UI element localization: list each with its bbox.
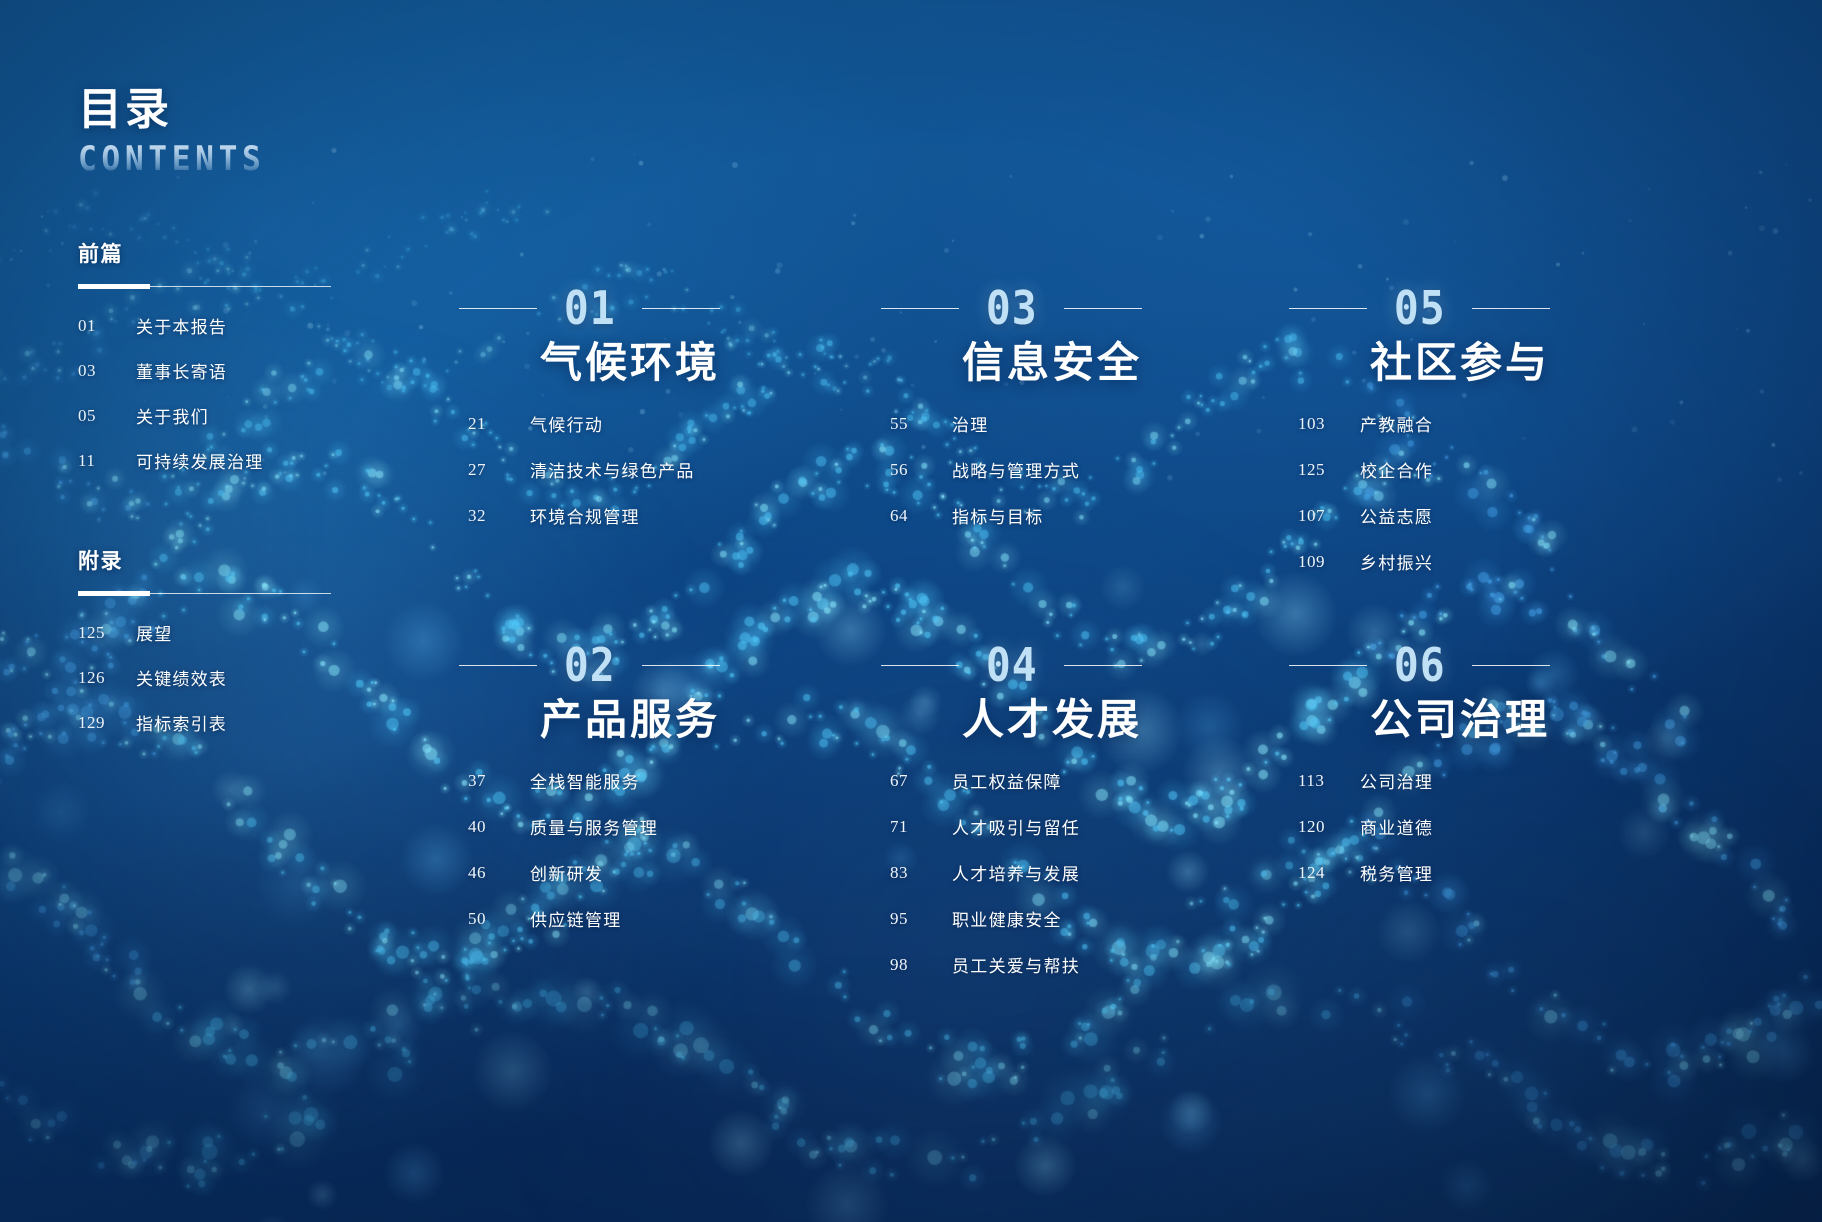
rule-left [459, 308, 537, 309]
chapter-number-row: 04 [782, 645, 1142, 686]
rule-left [1289, 665, 1367, 666]
item-page-number: 107 [1298, 506, 1360, 526]
rule-right [642, 308, 720, 309]
item-page-number: 109 [1298, 552, 1360, 572]
list-item[interactable]: 124 税务管理 [1190, 860, 1550, 885]
item-page-number: 67 [890, 771, 952, 791]
chapter-number-row: 05 [1190, 288, 1550, 329]
chapter-number: 03 [985, 288, 1037, 329]
item-page-number: 129 [78, 713, 136, 733]
page-title: 目录 CONTENTS [78, 88, 282, 176]
list-item[interactable]: 32 环境合规管理 [360, 503, 720, 528]
item-title: 乡村振兴 [1360, 549, 1550, 574]
item-page-number: 55 [890, 414, 952, 434]
list-item[interactable]: 103 产教融合 [1190, 411, 1550, 436]
list-item[interactable]: 71 人才吸引与留任 [782, 814, 1142, 839]
chapter-item-list: 67 员工权益保障 71 人才吸引与留任 83 人才培养与发展 95 职业健康安… [782, 768, 1142, 977]
item-page-number: 95 [890, 909, 952, 929]
item-title: 产教融合 [1360, 411, 1550, 436]
chapter-05: 05 社区参与 103 产教融合 125 校企合作 107 公益志愿 109 乡… [1190, 288, 1550, 595]
section-heading: 附录 [78, 545, 418, 575]
chapter-number-row: 01 [360, 288, 720, 329]
rule-left [881, 665, 959, 666]
item-page-number: 120 [1298, 817, 1360, 837]
item-page-number: 40 [468, 817, 530, 837]
chapter-number: 02 [563, 645, 615, 686]
list-item[interactable]: 113 公司治理 [1190, 768, 1550, 793]
item-title: 董事长寄语 [136, 358, 227, 383]
rule-right [1472, 665, 1550, 666]
item-page-number: 113 [1298, 771, 1360, 791]
item-title: 战略与管理方式 [952, 457, 1142, 482]
rule-right [1064, 308, 1142, 309]
chapter-title: 公司治理 [1190, 698, 1550, 742]
list-item[interactable]: 40 质量与服务管理 [360, 814, 720, 839]
contents-page: 目录 CONTENTS 前篇 01 关于本报告 03 董事长寄语 05 关于我们… [0, 0, 1822, 1222]
list-item[interactable]: 27 清洁技术与绿色产品 [360, 457, 720, 482]
chapter-number-row: 02 [360, 645, 720, 686]
chapter-item-list: 21 气候行动 27 清洁技术与绿色产品 32 环境合规管理 [360, 411, 720, 528]
list-item[interactable]: 107 公益志愿 [1190, 503, 1550, 528]
item-page-number: 103 [1298, 414, 1360, 434]
item-title: 展望 [136, 620, 172, 645]
item-page-number: 37 [468, 771, 530, 791]
chapter-04: 04 人才发展 67 员工权益保障 71 人才吸引与留任 83 人才培养与发展 … [782, 645, 1142, 998]
item-page-number: 01 [78, 316, 136, 336]
list-item[interactable]: 83 人才培养与发展 [782, 860, 1142, 885]
section-divider [78, 286, 331, 287]
item-title: 供应链管理 [530, 906, 720, 931]
item-page-number: 98 [890, 955, 952, 975]
item-page-number: 83 [890, 863, 952, 883]
chapter-item-list: 113 公司治理 120 商业道德 124 税务管理 [1190, 768, 1550, 885]
item-page-number: 11 [78, 451, 136, 471]
list-item[interactable]: 46 创新研发 [360, 860, 720, 885]
item-page-number: 124 [1298, 863, 1360, 883]
item-title: 税务管理 [1360, 860, 1550, 885]
item-page-number: 126 [78, 668, 136, 688]
list-item[interactable]: 125 校企合作 [1190, 457, 1550, 482]
list-item[interactable]: 125 展望 [78, 620, 418, 645]
list-item[interactable]: 64 指标与目标 [782, 503, 1142, 528]
chapter-title: 产品服务 [360, 698, 720, 742]
chapter-item-list: 37 全栈智能服务 40 质量与服务管理 46 创新研发 50 供应链管理 [360, 768, 720, 931]
item-page-number: 71 [890, 817, 952, 837]
chapter-number: 06 [1393, 645, 1445, 686]
item-page-number: 64 [890, 506, 952, 526]
list-item[interactable]: 120 商业道德 [1190, 814, 1550, 839]
chapter-number-row: 06 [1190, 645, 1550, 686]
item-page-number: 125 [78, 623, 136, 643]
item-title: 商业道德 [1360, 814, 1550, 839]
item-title: 环境合规管理 [530, 503, 720, 528]
list-item[interactable]: 21 气候行动 [360, 411, 720, 436]
item-title: 可持续发展治理 [136, 448, 263, 473]
chapter-number: 05 [1393, 288, 1445, 329]
list-item[interactable]: 67 员工权益保障 [782, 768, 1142, 793]
item-page-number: 125 [1298, 460, 1360, 480]
chapter-01: 01 气候环境 21 气候行动 27 清洁技术与绿色产品 32 环境合规管理 [360, 288, 720, 549]
item-page-number: 03 [78, 361, 136, 381]
item-page-number: 21 [468, 414, 530, 434]
page-title-en: CONTENTS [78, 142, 265, 176]
item-page-number: 27 [468, 460, 530, 480]
rule-right [1472, 308, 1550, 309]
item-title: 员工关爱与帮扶 [952, 952, 1142, 977]
chapter-06: 06 公司治理 113 公司治理 120 商业道德 124 税务管理 [1190, 645, 1550, 906]
item-title: 清洁技术与绿色产品 [530, 457, 720, 482]
chapter-title: 信息安全 [782, 341, 1142, 385]
item-title: 治理 [952, 411, 1142, 436]
item-title: 公司治理 [1360, 768, 1550, 793]
item-page-number: 50 [468, 909, 530, 929]
page-title-cn: 目录 [78, 88, 282, 132]
list-item[interactable]: 95 职业健康安全 [782, 906, 1142, 931]
chapter-title: 人才发展 [782, 698, 1142, 742]
item-title: 质量与服务管理 [530, 814, 720, 839]
item-title: 指标与目标 [952, 503, 1142, 528]
list-item[interactable]: 37 全栈智能服务 [360, 768, 720, 793]
item-title: 气候行动 [530, 411, 720, 436]
item-title: 人才培养与发展 [952, 860, 1142, 885]
item-page-number: 32 [468, 506, 530, 526]
item-page-number: 46 [468, 863, 530, 883]
list-item[interactable]: 55 治理 [782, 411, 1142, 436]
list-item[interactable]: 98 员工关爱与帮扶 [782, 952, 1142, 977]
section-divider [78, 593, 331, 594]
rule-left [881, 308, 959, 309]
item-title: 员工权益保障 [952, 768, 1142, 793]
item-title: 职业健康安全 [952, 906, 1142, 931]
item-title: 关键绩效表 [136, 665, 227, 690]
item-title: 全栈智能服务 [530, 768, 720, 793]
item-title: 关于我们 [136, 403, 209, 428]
chapter-title: 社区参与 [1190, 341, 1550, 385]
item-title: 人才吸引与留任 [952, 814, 1142, 839]
rule-right [642, 665, 720, 666]
item-page-number: 56 [890, 460, 952, 480]
list-item[interactable]: 56 战略与管理方式 [782, 457, 1142, 482]
item-title: 创新研发 [530, 860, 720, 885]
chapter-item-list: 103 产教融合 125 校企合作 107 公益志愿 109 乡村振兴 [1190, 411, 1550, 574]
item-title: 关于本报告 [136, 313, 227, 338]
item-title: 校企合作 [1360, 457, 1550, 482]
item-page-number: 05 [78, 406, 136, 426]
chapter-title: 气候环境 [360, 341, 720, 385]
chapter-03: 03 信息安全 55 治理 56 战略与管理方式 64 指标与目标 [782, 288, 1142, 549]
list-item[interactable]: 50 供应链管理 [360, 906, 720, 931]
rule-left [459, 665, 537, 666]
rule-right [1064, 665, 1142, 666]
chapter-item-list: 55 治理 56 战略与管理方式 64 指标与目标 [782, 411, 1142, 528]
chapter-02: 02 产品服务 37 全栈智能服务 40 质量与服务管理 46 创新研发 50 … [360, 645, 720, 952]
chapter-number: 04 [985, 645, 1037, 686]
list-item[interactable]: 109 乡村振兴 [1190, 549, 1550, 574]
chapter-number: 01 [563, 288, 615, 329]
section-heading: 前篇 [78, 238, 418, 268]
item-title: 指标索引表 [136, 710, 227, 735]
item-title: 公益志愿 [1360, 503, 1550, 528]
rule-left [1289, 308, 1367, 309]
chapter-number-row: 03 [782, 288, 1142, 329]
